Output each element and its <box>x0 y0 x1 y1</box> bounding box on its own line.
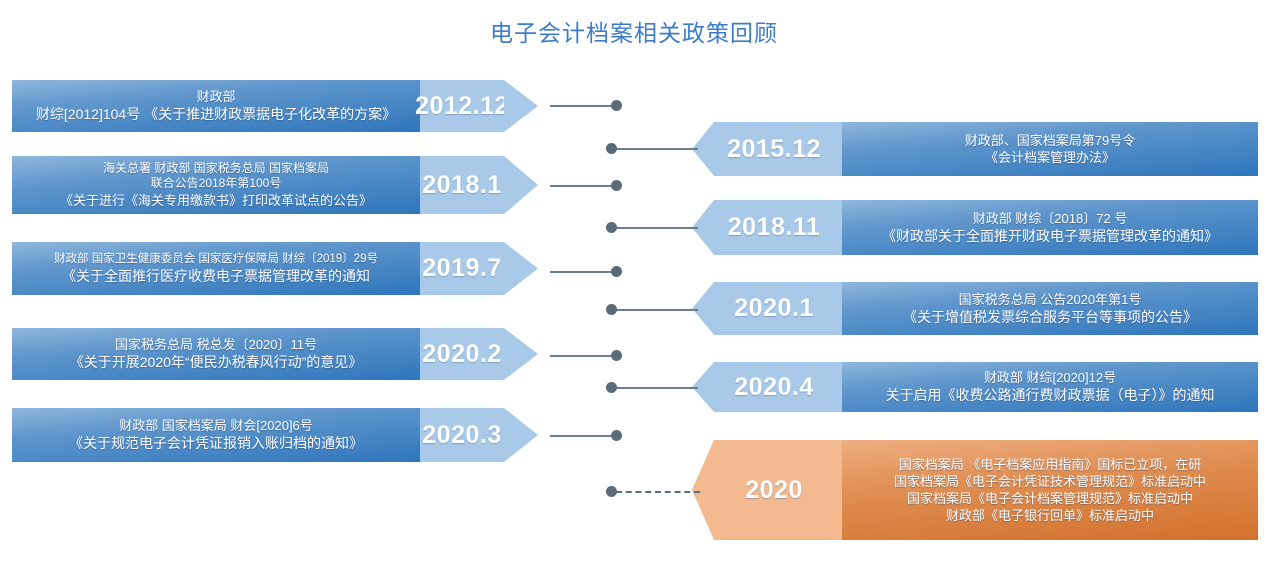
date-label: 2018.11 <box>728 213 821 242</box>
connector-dot-left-1 <box>611 180 622 191</box>
policy-text-panel: 财政部 财综[2012]104号 《关于推进财政票据电子化改革的方案》 <box>12 80 420 132</box>
connector-dot-right-4 <box>606 486 617 497</box>
date-panel: 2020.3 <box>420 408 504 462</box>
date-panel: 2020.2 <box>420 328 504 380</box>
policy-text-panel: 海关总署 财政部 国家税务总局 国家档案局 联合公告2018年第100号 《关于… <box>12 156 420 214</box>
connector-line-left-2 <box>550 271 618 273</box>
connector-line-left-0 <box>550 105 618 107</box>
date-panel: 2020 <box>692 440 842 540</box>
policy-line: 联合公告2018年第100号 <box>151 176 282 192</box>
policy-line: 海关总署 财政部 国家税务总局 国家档案局 <box>103 161 329 177</box>
date-label: 2019.7 <box>422 254 501 283</box>
policy-line: 财综[2012]104号 《关于推进财政票据电子化改革的方案》 <box>36 105 396 123</box>
connector-line-right-2 <box>616 309 698 311</box>
timeline-item-right-0[interactable]: 2015.12 财政部、国家档案局第79号令 《会计档案管理办法》 <box>692 122 1258 176</box>
date-label: 2020.1 <box>734 294 813 323</box>
policy-line: 《会计档案管理办法》 <box>985 149 1115 166</box>
connector-line-right-4 <box>616 491 700 493</box>
policy-line: 财政部《电子银行回单》标准启动中 <box>946 507 1154 524</box>
date-panel: 2019.7 <box>420 242 504 295</box>
policy-line: 财政部、国家档案局第79号令 <box>965 132 1135 149</box>
policy-line: 《关于全面推行医疗收费电子票据管理改革的通知 <box>62 267 370 285</box>
page-title: 电子会计档案相关政策回顾 <box>0 14 1268 48</box>
policy-text-panel: 国家税务总局 税总发〔2020〕11号 《关于开展2020年“便民办税春风行动”… <box>12 328 420 380</box>
policy-text-panel: 国家税务总局 公告2020年第1号 《关于增值税发票综合服务平台等事项的公告》 <box>842 282 1258 335</box>
connector-dot-left-0 <box>611 100 622 111</box>
policy-text-panel: 财政部、国家档案局第79号令 《会计档案管理办法》 <box>842 122 1258 176</box>
arrow-right-icon <box>504 242 538 295</box>
policy-line: 国家档案局 《电子档案应用指南》国标已立项，在研 <box>899 456 1202 473</box>
date-panel: 2018.11 <box>692 200 842 255</box>
timeline-item-right-4[interactable]: 2020 国家档案局 《电子档案应用指南》国标已立项，在研 国家档案局《电子会计… <box>692 440 1258 540</box>
timeline-item-right-1[interactable]: 2018.11 财政部 财综〔2018〕72 号 《财政部关于全面推开财政电子票… <box>692 200 1258 255</box>
connector-dot-left-3 <box>611 350 622 361</box>
connector-line-right-0 <box>616 148 698 150</box>
timeline-item-right-2[interactable]: 2020.1 国家税务总局 公告2020年第1号 《关于增值税发票综合服务平台等… <box>692 282 1258 335</box>
policy-text-panel: 财政部 财综〔2018〕72 号 《财政部关于全面推开财政电子票据管理改革的通知… <box>842 200 1258 255</box>
policy-line: 《财政部关于全面推开财政电子票据管理改革的通知》 <box>882 227 1218 245</box>
policy-text-panel: 财政部 国家档案局 财会[2020]6号 《关于规范电子会计凭证报销入账归档的通… <box>12 408 420 462</box>
policy-text-panel: 财政部 财综[2020]12号 关于启用《收费公路通行费财政票据（电子）》的通知 <box>842 362 1258 412</box>
policy-line: 国家税务总局 税总发〔2020〕11号 <box>115 336 317 353</box>
connector-line-left-3 <box>550 355 618 357</box>
date-label: 2012.12 <box>415 92 509 121</box>
arrow-right-icon <box>504 80 538 132</box>
timeline-diagram: 电子会计档案相关政策回顾 财政部 财综[2012]104号 《关于推进财政票据电… <box>0 0 1268 563</box>
connector-dot-left-4 <box>611 430 622 441</box>
timeline-item-right-3[interactable]: 2020.4 财政部 财综[2020]12号 关于启用《收费公路通行费财政票据（… <box>692 362 1258 412</box>
date-panel: 2020.4 <box>692 362 842 412</box>
date-label: 2018.1 <box>422 171 501 200</box>
date-label: 2015.12 <box>727 135 821 164</box>
policy-line: 《关于开展2020年“便民办税春风行动”的意见》 <box>70 353 362 371</box>
timeline-item-left-4[interactable]: 财政部 国家档案局 财会[2020]6号 《关于规范电子会计凭证报销入账归档的通… <box>12 408 538 462</box>
connector-dot-left-2 <box>611 266 622 277</box>
date-label: 2020.3 <box>422 421 501 450</box>
policy-line: 国家税务总局 公告2020年第1号 <box>959 291 1142 308</box>
policy-line: 国家档案局《电子会计档案管理规范》标准启动中 <box>907 490 1193 507</box>
connector-line-left-4 <box>550 435 618 437</box>
arrow-right-icon <box>504 328 538 380</box>
policy-line: 《关于规范电子会计凭证报销入账归档的通知》 <box>69 434 363 452</box>
date-label: 2020 <box>745 476 803 505</box>
date-panel: 2012.12 <box>420 80 504 132</box>
policy-line: 《关于进行《海关专用缴款书》打印改革试点的公告》 <box>60 192 372 209</box>
date-label: 2020.4 <box>734 373 813 402</box>
connector-dot-right-0 <box>606 143 617 154</box>
arrow-right-icon <box>504 408 538 462</box>
policy-line: 财政部 国家卫生健康委员会 国家医疗保障局 财综〔2019〕29号 <box>54 252 378 267</box>
timeline-item-left-0[interactable]: 财政部 财综[2012]104号 《关于推进财政票据电子化改革的方案》 2012… <box>12 80 538 132</box>
date-panel: 2020.1 <box>692 282 842 335</box>
policy-text-panel: 财政部 国家卫生健康委员会 国家医疗保障局 财综〔2019〕29号 《关于全面推… <box>12 242 420 295</box>
timeline-item-left-1[interactable]: 海关总署 财政部 国家税务总局 国家档案局 联合公告2018年第100号 《关于… <box>12 156 538 214</box>
policy-line: 财政部 财综〔2018〕72 号 <box>973 210 1128 227</box>
policy-line: 财政部 国家档案局 财会[2020]6号 <box>119 417 313 434</box>
arrow-right-icon <box>504 156 538 214</box>
date-panel: 2015.12 <box>692 122 842 176</box>
connector-dot-right-2 <box>606 304 617 315</box>
policy-line: 财政部 财综[2020]12号 <box>984 369 1116 386</box>
timeline-item-left-3[interactable]: 国家税务总局 税总发〔2020〕11号 《关于开展2020年“便民办税春风行动”… <box>12 328 538 380</box>
connector-line-right-1 <box>616 227 698 229</box>
policy-line: 关于启用《收费公路通行费财政票据（电子）》的通知 <box>886 386 1215 404</box>
connector-dot-right-3 <box>606 382 617 393</box>
connector-line-left-1 <box>550 185 618 187</box>
policy-line: 《关于增值税发票综合服务平台等事项的公告》 <box>903 308 1197 326</box>
policy-line: 财政部 <box>196 88 235 105</box>
connector-line-right-3 <box>616 387 698 389</box>
policy-line: 国家档案局《电子会计凭证技术管理规范》标准启动中 <box>894 473 1206 490</box>
date-label: 2020.2 <box>422 340 501 369</box>
connector-dot-right-1 <box>606 222 617 233</box>
policy-text-panel: 国家档案局 《电子档案应用指南》国标已立项，在研 国家档案局《电子会计凭证技术管… <box>842 440 1258 540</box>
timeline-item-left-2[interactable]: 财政部 国家卫生健康委员会 国家医疗保障局 财综〔2019〕29号 《关于全面推… <box>12 242 538 295</box>
date-panel: 2018.1 <box>420 156 504 214</box>
